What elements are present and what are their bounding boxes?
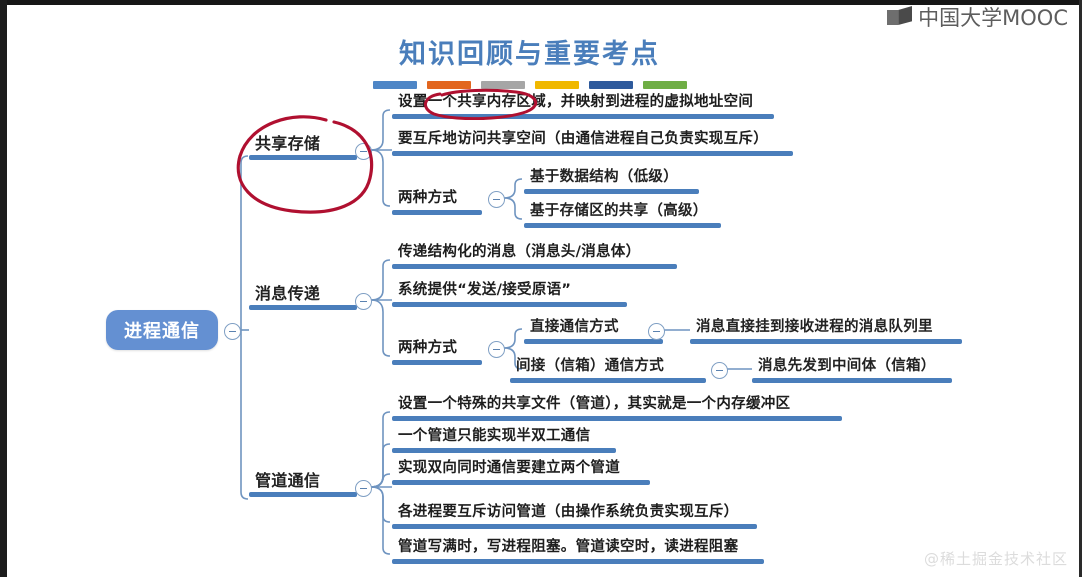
node-label: 消息先发到中间体（信箱） xyxy=(752,357,952,378)
node-send-to-mailbox[interactable]: 消息先发到中间体（信箱） xyxy=(752,357,952,383)
node-direct-communication[interactable]: 直接通信方式 xyxy=(524,318,663,344)
node-shared-memory-region[interactable]: 设置一个共享内存区域，并映射到进程的虚拟地址空间 xyxy=(392,93,774,119)
node-underline xyxy=(392,448,616,453)
node-underline xyxy=(392,416,842,421)
node-underline xyxy=(392,210,482,215)
node-underline xyxy=(752,378,952,383)
node-underline xyxy=(690,339,962,344)
toggle-indirect-communication[interactable] xyxy=(711,362,728,379)
watermark: @稀土掘金技术社区 xyxy=(924,548,1068,569)
node-message-passing[interactable]: 消息传递 xyxy=(249,284,357,310)
node-underline xyxy=(392,264,677,269)
node-label: 管道写满时，写进程阻塞。管道读空时，读进程阻塞 xyxy=(392,538,764,559)
node-label: 间接（信箱）通信方式 xyxy=(510,357,706,378)
node-label: 设置一个共享内存区域，并映射到进程的虚拟地址空间 xyxy=(392,93,774,114)
node-indirect-communication[interactable]: 间接（信箱）通信方式 xyxy=(510,357,706,383)
node-underline xyxy=(249,305,357,310)
node-two-methods-message[interactable]: 两种方式 xyxy=(392,339,482,365)
node-pipe-special-file[interactable]: 设置一个特殊的共享文件（管道），其实就是一个内存缓冲区 xyxy=(392,395,842,421)
node-label: 基于数据结构（低级） xyxy=(524,168,699,189)
letterbox-left xyxy=(0,0,7,577)
toggle-two-methods-storage[interactable] xyxy=(488,191,505,208)
node-label: 基于存储区的共享（高级） xyxy=(524,202,721,223)
toggle-shared-storage[interactable] xyxy=(355,143,372,160)
node-shared-storage[interactable]: 共享存储 xyxy=(249,134,357,160)
node-underline xyxy=(392,151,793,156)
node-pipe-communication[interactable]: 管道通信 xyxy=(249,471,357,497)
node-label: 两种方式 xyxy=(392,189,482,210)
node-label: 一个管道只能实现半双工通信 xyxy=(392,427,616,448)
node-underline xyxy=(249,155,357,160)
node-label: 直接通信方式 xyxy=(524,318,663,339)
node-underline xyxy=(392,524,757,529)
node-label: 各进程要互斥访问管道（由操作系统负责实现互斥） xyxy=(392,503,757,524)
node-message-passing-label: 消息传递 xyxy=(249,284,357,305)
mindmap: 进程通信 共享存储 设置一个共享内存区域，并映射到进程的虚拟地址空间 要互斥地访… xyxy=(0,0,1082,577)
node-label: 设置一个特殊的共享文件（管道），其实就是一个内存缓冲区 xyxy=(392,395,842,416)
node-direct-to-queue[interactable]: 消息直接挂到接收进程的消息队列里 xyxy=(690,318,962,344)
toggle-message-passing[interactable] xyxy=(355,293,372,310)
node-pipe-mutex-access[interactable]: 各进程要互斥访问管道（由操作系统负责实现互斥） xyxy=(392,503,757,529)
node-underline xyxy=(392,480,650,485)
node-shared-storage-label: 共享存储 xyxy=(249,134,357,155)
node-underline xyxy=(392,114,774,119)
node-underline xyxy=(392,360,482,365)
node-underline xyxy=(524,189,699,194)
node-underline xyxy=(524,223,721,228)
cube-icon xyxy=(887,6,913,28)
toggle-pipe-communication[interactable] xyxy=(355,480,372,497)
mooc-logo: 中国大学MOOC xyxy=(887,2,1068,32)
node-underline xyxy=(392,559,764,564)
letterbox-top xyxy=(0,0,1082,5)
node-label: 两种方式 xyxy=(392,339,482,360)
node-send-receive-primitives[interactable]: 系统提供“发送/接受原语” xyxy=(392,281,627,307)
toggle-root[interactable] xyxy=(224,323,241,340)
node-underline xyxy=(392,302,627,307)
toggle-two-methods-message[interactable] xyxy=(488,341,505,358)
node-label: 传递结构化的消息（消息头/消息体） xyxy=(392,243,677,264)
node-underline xyxy=(249,492,357,497)
node-label: 实现双向同时通信要建立两个管道 xyxy=(392,459,650,480)
root-node[interactable]: 进程通信 xyxy=(106,310,218,350)
node-label: 要互斥地访问共享空间（由通信进程自己负责实现互斥） xyxy=(392,130,793,151)
node-data-structure-based[interactable]: 基于数据结构（低级） xyxy=(524,168,699,194)
node-pipe-two-pipes[interactable]: 实现双向同时通信要建立两个管道 xyxy=(392,459,650,485)
node-underline xyxy=(510,378,706,383)
node-label: 消息直接挂到接收进程的消息队列里 xyxy=(690,318,962,339)
node-pipe-half-duplex[interactable]: 一个管道只能实现半双工通信 xyxy=(392,427,616,453)
mooc-logo-text: 中国大学MOOC xyxy=(918,2,1068,32)
node-pipe-block[interactable]: 管道写满时，写进程阻塞。管道读空时，读进程阻塞 xyxy=(392,538,764,564)
node-structured-message[interactable]: 传递结构化的消息（消息头/消息体） xyxy=(392,243,677,269)
node-pipe-communication-label: 管道通信 xyxy=(249,471,357,492)
node-label: 系统提供“发送/接受原语” xyxy=(392,281,627,302)
video-frame: 中国大学MOOC 知识回顾与重要考点 xyxy=(0,0,1082,577)
node-underline xyxy=(524,339,663,344)
node-storage-area-based[interactable]: 基于存储区的共享（高级） xyxy=(524,202,721,228)
toggle-direct-communication[interactable] xyxy=(648,323,665,340)
node-mutex-shared-space[interactable]: 要互斥地访问共享空间（由通信进程自己负责实现互斥） xyxy=(392,130,793,156)
node-two-methods-storage[interactable]: 两种方式 xyxy=(392,189,482,215)
